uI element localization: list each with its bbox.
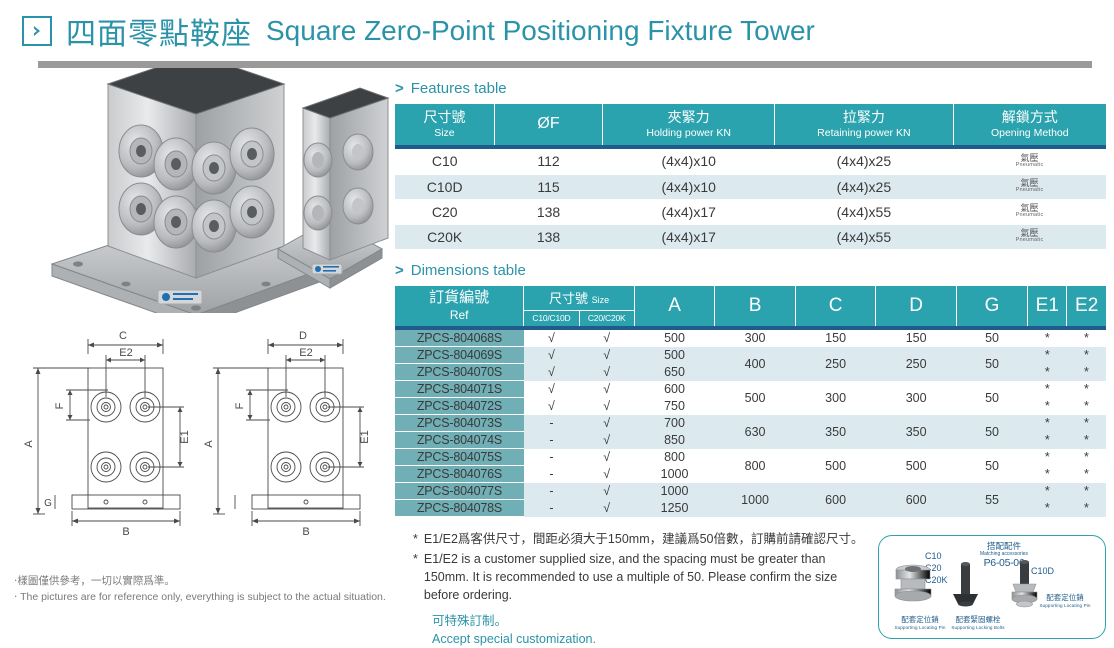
dim-label-a-2: A — [203, 440, 215, 448]
dim-e1-cell: * — [1028, 398, 1067, 415]
size-c20-cell: √ — [579, 466, 634, 483]
disclaimer-en: ‧ The pictures are for reference only, e… — [14, 590, 386, 606]
dim-e2-cell: * — [1067, 381, 1106, 398]
receiver-ports — [91, 392, 160, 482]
header-divider — [38, 61, 1092, 68]
receiver-ports-2 — [271, 392, 340, 482]
col-opening-method: 解鎖方式 Opening Method — [953, 104, 1106, 145]
dim-a-cell: 750 — [634, 398, 715, 415]
dim-c-cell: 300 — [795, 381, 876, 415]
size-c20-cell: √ — [579, 347, 634, 364]
size-c20-cell: √ — [579, 449, 634, 466]
size-c20-cell: √ — [579, 500, 634, 517]
features-table: 尺寸號 Size ØF 夾緊力 Holding power KN 拉緊力 Ret… — [395, 104, 1106, 145]
dim-d-cell: 600 — [876, 483, 957, 517]
drawing-front-view-c: C E2 — [23, 330, 191, 537]
retaining-cell: (4x4)x55 — [775, 224, 953, 249]
dim-b-cell: 400 — [715, 347, 796, 381]
size-cell: C10D — [395, 174, 494, 199]
ref-cell: ZPCS-804070S — [395, 364, 524, 381]
dim-a-cell: 1000 — [634, 483, 715, 500]
features-header-row: 尺寸號 Size ØF 夾緊力 Holding power KN 拉緊力 Ret… — [395, 104, 1106, 145]
dimensions-header-row: 訂貨編號 Ref 尺寸號 Size A B C D G E1 E2 — [395, 286, 1106, 311]
dim-d-cell: 350 — [876, 415, 957, 449]
size-c20-cell: √ — [579, 398, 634, 415]
of-cell: 112 — [494, 149, 602, 174]
dim-c-cell: 250 — [795, 347, 876, 381]
size-cell: C10 — [395, 149, 494, 174]
col-size-c20: C20/C20K — [579, 310, 634, 326]
col-of: ØF — [494, 104, 602, 145]
dim-c-cell: 350 — [795, 415, 876, 449]
col-e1: E1 — [1028, 286, 1067, 326]
dim-b-cell: 800 — [715, 449, 796, 483]
size-cell: C20K — [395, 224, 494, 249]
note-cn-text: E1/E2爲客供尺寸，間距必須大于150mm，建議爲50倍數，訂購前請確認尺寸。 — [424, 530, 864, 548]
ref-cell: ZPCS-804069S — [395, 347, 524, 364]
section-marker-icon: > — [395, 81, 404, 96]
features-table-row: C20138(4x4)x17(4x4)x55氣壓Pneumatic — [395, 199, 1106, 224]
dim-e1-cell: * — [1028, 500, 1067, 517]
dim-a-cell: 500 — [634, 330, 715, 347]
dim-a-cell: 500 — [634, 347, 715, 364]
left-column: C E2 — [0, 68, 395, 648]
dimensions-table-row: ZPCS-804073S-√70063035035050** — [395, 415, 1106, 432]
dim-label-e2-2: E2 — [299, 347, 312, 359]
size-c10-cell: √ — [524, 347, 579, 364]
holding-cell: (4x4)x10 — [603, 149, 775, 174]
dim-a-cell: 1000 — [634, 466, 715, 483]
dim-d-cell: 500 — [876, 449, 957, 483]
dim-e2-cell: * — [1067, 364, 1106, 381]
dim-e1-cell: * — [1028, 466, 1067, 483]
retaining-cell: (4x4)x25 — [775, 149, 953, 174]
size-c20-cell: √ — [579, 364, 634, 381]
disclaimer-cn: ‧樣圖僅供參考，一切以實際爲準。 — [14, 574, 386, 590]
size-c10-cell: √ — [524, 330, 579, 347]
dim-g-cell: 55 — [956, 483, 1027, 517]
page-title-en: Square Zero-Point Positioning Fixture To… — [266, 15, 815, 47]
col-a: A — [634, 286, 715, 326]
ref-cell: ZPCS-804068S — [395, 330, 524, 347]
dim-label-e2: E2 — [119, 347, 132, 359]
of-cell: 115 — [494, 174, 602, 199]
disclaimer: ‧樣圖僅供參考，一切以實際爲準。 ‧ The pictures are for … — [14, 574, 386, 606]
dim-e1-cell: * — [1028, 347, 1067, 364]
dim-d-cell: 150 — [876, 330, 957, 347]
col-b: B — [715, 286, 796, 326]
dim-d-cell: 250 — [876, 347, 957, 381]
ref-cell: ZPCS-804074S — [395, 432, 524, 449]
dim-label-b-2: B — [302, 526, 309, 537]
accessory-label-2: 配套緊固螺栓 Supporting Locking Bolts — [939, 616, 1017, 630]
dim-label-g: G — [44, 498, 52, 509]
size-c10-cell: - — [524, 432, 579, 449]
section-marker-icon-2: > — [395, 263, 404, 278]
page-title-cn: 四面零點鞍座 — [66, 9, 252, 53]
dim-c-cell: 600 — [795, 483, 876, 517]
of-cell: 138 — [494, 199, 602, 224]
features-table-row: C10D115(4x4)x10(4x4)x25氣壓Pneumatic — [395, 174, 1106, 199]
dim-a-cell: 800 — [634, 449, 715, 466]
dim-e1-cell: * — [1028, 483, 1067, 500]
col-d: D — [876, 286, 957, 326]
size-c20-cell: √ — [579, 381, 634, 398]
dim-label-f: F — [54, 402, 66, 409]
dimensions-table-row: ZPCS-804075S-√80080050050050** — [395, 449, 1106, 466]
features-table-row: C20K138(4x4)x17(4x4)x55氣壓Pneumatic — [395, 224, 1106, 249]
dim-g-cell: 50 — [956, 415, 1027, 449]
features-section-title: > Features table — [395, 80, 1106, 97]
size-c10-cell: √ — [524, 364, 579, 381]
dimensions-table: 訂貨編號 Ref 尺寸號 Size A B C D G E1 E2 — [395, 286, 1106, 326]
dim-label-e1: E1 — [179, 430, 191, 443]
dimensions-table-row: ZPCS-804077S-√1000100060060055** — [395, 483, 1106, 500]
note-star-2: * — [413, 550, 418, 604]
dim-label-b: B — [122, 526, 129, 537]
col-size: 尺寸號 Size — [395, 104, 494, 145]
dim-label-c: C — [119, 330, 127, 342]
of-cell: 138 — [494, 224, 602, 249]
features-title-text: Features table — [411, 80, 507, 97]
size-c10-cell: - — [524, 449, 579, 466]
col-retaining-power: 拉緊力 Retaining power KN — [775, 104, 953, 145]
dim-g-cell: 50 — [956, 449, 1027, 483]
dim-e1-cell: * — [1028, 415, 1067, 432]
dim-c-cell: 150 — [795, 330, 876, 347]
col-size-c10: C10/C10D — [524, 310, 579, 326]
dim-e2-cell: * — [1067, 500, 1106, 517]
dim-label-e1-2: E1 — [359, 430, 371, 443]
dim-g-cell: 50 — [956, 381, 1027, 415]
features-table-body: C10112(4x4)x10(4x4)x25氣壓PneumaticC10D115… — [395, 149, 1106, 250]
size-c20-cell: √ — [579, 432, 634, 449]
dimensions-table-row: ZPCS-804069S√√50040025025050** — [395, 347, 1106, 364]
dimensions-title-text: Dimensions table — [411, 262, 526, 279]
dim-b-cell: 1000 — [715, 483, 796, 517]
features-table-row: C10112(4x4)x10(4x4)x25氣壓Pneumatic — [395, 149, 1106, 174]
locating-pin-graphic — [895, 565, 931, 601]
size-c20-cell: √ — [579, 415, 634, 432]
opening-method-cell: 氣壓Pneumatic — [953, 224, 1106, 249]
brand-logo — [158, 290, 202, 304]
retaining-cell: (4x4)x55 — [775, 199, 953, 224]
dim-e2-cell: * — [1067, 432, 1106, 449]
size-c20-cell: √ — [579, 330, 634, 347]
dim-b-cell: 300 — [715, 330, 796, 347]
dim-e1-cell: * — [1028, 432, 1067, 449]
drawing-side-view-d: D E2 A — [203, 330, 371, 537]
size-c10-cell: - — [524, 500, 579, 517]
dim-e2-cell: * — [1067, 449, 1106, 466]
size-c10-cell: √ — [524, 398, 579, 415]
dim-a-cell: 700 — [634, 415, 715, 432]
col-c: C — [795, 286, 876, 326]
dim-e2-cell: * — [1067, 466, 1106, 483]
note-star-1: * — [413, 530, 418, 548]
retaining-cell: (4x4)x25 — [775, 174, 953, 199]
ref-cell: ZPCS-804072S — [395, 398, 524, 415]
dim-a-cell: 600 — [634, 381, 715, 398]
ref-cell: ZPCS-804071S — [395, 381, 524, 398]
ref-cell: ZPCS-804077S — [395, 483, 524, 500]
dim-b-cell: 500 — [715, 381, 796, 415]
size-c10-cell: - — [524, 483, 579, 500]
col-e2: E2 — [1067, 286, 1106, 326]
dim-a-cell: 1250 — [634, 500, 715, 517]
opening-method-cell: 氣壓Pneumatic — [953, 199, 1106, 224]
dim-g-cell: 50 — [956, 330, 1027, 347]
dim-e2-cell: * — [1067, 483, 1106, 500]
holding-cell: (4x4)x10 — [603, 174, 775, 199]
col-size-group: 尺寸號 Size — [524, 286, 634, 311]
size-cell: C20 — [395, 199, 494, 224]
dim-c-cell: 500 — [795, 449, 876, 483]
dim-e2-cell: * — [1067, 347, 1106, 364]
dim-e1-cell: * — [1028, 330, 1067, 347]
size-c10-cell: - — [524, 466, 579, 483]
opening-method-cell: 氣壓Pneumatic — [953, 174, 1106, 199]
holding-cell: (4x4)x17 — [603, 199, 775, 224]
dim-b-cell: 630 — [715, 415, 796, 449]
col-holding-power: 夾緊力 Holding power KN — [603, 104, 775, 145]
holding-cell: (4x4)x17 — [603, 224, 775, 249]
page-header: 四面零點鞍座 Square Zero-Point Positioning Fix… — [0, 0, 1114, 52]
brand-logo-small — [312, 264, 342, 274]
chevron-right-icon — [22, 16, 52, 46]
dim-e2-cell: * — [1067, 330, 1106, 347]
col-g: G — [956, 286, 1027, 326]
dim-label-a: A — [23, 440, 35, 448]
locking-bolt-graphic — [953, 562, 978, 607]
dim-e1-cell: * — [1028, 449, 1067, 466]
opening-method-cell: 氣壓Pneumatic — [953, 149, 1106, 174]
ref-cell: ZPCS-804078S — [395, 500, 524, 517]
accessories-box: 搭配配件 Matching accessories P6-05-06 C10 C… — [878, 535, 1106, 639]
dim-a-cell: 650 — [634, 364, 715, 381]
ref-cell: ZPCS-804076S — [395, 466, 524, 483]
dim-label-f-2: F — [234, 402, 246, 409]
ref-cell: ZPCS-804073S — [395, 415, 524, 432]
product-photo — [0, 68, 395, 318]
accessory-label-3: 配套定位銷 Supporting Locating Pin — [1027, 594, 1103, 608]
size-c10-cell: √ — [524, 381, 579, 398]
size-c10-cell: - — [524, 415, 579, 432]
technical-drawings: C E2 — [0, 322, 395, 542]
dim-g-cell: 50 — [956, 347, 1027, 381]
size-c20-cell: √ — [579, 483, 634, 500]
dim-label-d: D — [299, 330, 307, 342]
dimensions-table-body: ZPCS-804068S√√50030015015050**ZPCS-80406… — [395, 330, 1106, 518]
dim-a-cell: 850 — [634, 432, 715, 449]
dim-e2-cell: * — [1067, 415, 1106, 432]
ref-cell: ZPCS-804075S — [395, 449, 524, 466]
note-en-text: E1/E2 is a customer supplied size, and t… — [424, 550, 854, 604]
dimensions-section-title: > Dimensions table — [395, 262, 1106, 279]
dim-d-cell: 300 — [876, 381, 957, 415]
dim-e1-cell: * — [1028, 381, 1067, 398]
dim-e2-cell: * — [1067, 398, 1106, 415]
dimensions-table-row: ZPCS-804068S√√50030015015050** — [395, 330, 1106, 347]
dim-e1-cell: * — [1028, 364, 1067, 381]
col-ref: 訂貨編號 Ref — [395, 286, 524, 326]
dimensions-table-row: ZPCS-804071S√√60050030030050** — [395, 381, 1106, 398]
